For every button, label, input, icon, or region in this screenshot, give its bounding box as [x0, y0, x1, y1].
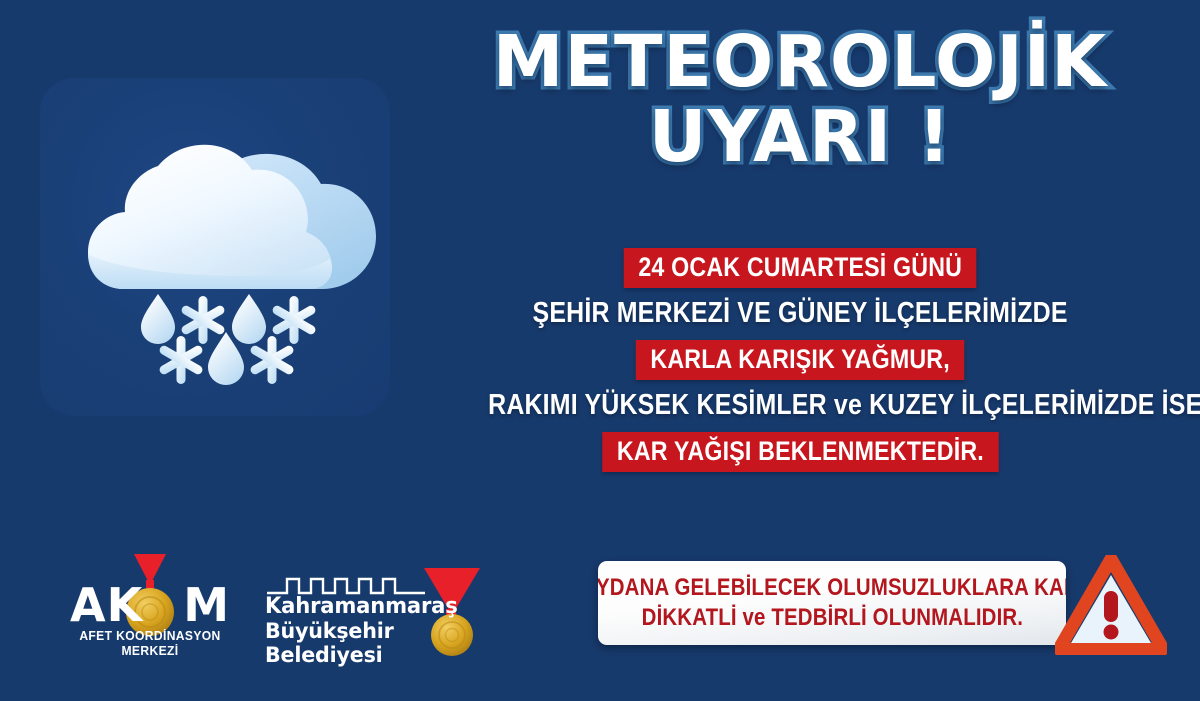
title-line-2: UYARI !: [430, 103, 1170, 172]
akom-wordmark: AKM: [50, 582, 250, 628]
message-line-3: KARLA KARIŞIK YAĞMUR,: [430, 340, 1170, 380]
akom-word-left: AK: [70, 578, 143, 632]
akom-subtitle: AFET KOORDİNASYON MERKEZİ: [57, 628, 243, 658]
caution-banner-line-2-text: DİKKATLİ ve TEDBİRLİ OLUNMALIDIR.: [641, 603, 1022, 633]
akom-logo: AKM AFET KOORDİNASYON MERKEZİ: [50, 552, 250, 652]
message-line-2: ŞEHİR MERKEZİ VE GÜNEY İLÇELERİMİZDE: [430, 294, 1170, 334]
message-line-1: 24 OCAK CUMARTESİ GÜNÜ: [430, 248, 1170, 288]
kahramanmaras-municipality-logo: Kahramanmaraş Büyükşehir Belediyesi: [265, 560, 490, 660]
meteorological-warning-poster: METEOROLOJİK UYARI ! 24 OCAK CUMARTESİ G…: [0, 0, 1200, 701]
kahramanmaras-wordmark: Kahramanmaraş Büyükşehir Belediyesi: [265, 595, 462, 668]
caution-banner: MEYDANA GELEBİLECEK OLUMSUZLUKLARA KARŞI…: [598, 561, 1066, 645]
message-line-1-text: 24 OCAK CUMARTESİ GÜNÜ: [624, 248, 977, 288]
kahramanmaras-line-2: Büyükşehir Belediyesi: [265, 620, 462, 668]
akom-word-right: M: [183, 578, 230, 632]
precipitation-row-1: [141, 294, 317, 344]
warning-message-block: 24 OCAK CUMARTESİ GÜNÜ ŞEHİR MERKEZİ VE …: [430, 248, 1170, 478]
message-line-4-text: RAKIMI YÜKSEK KESİMLER ve KUZEY İLÇELERİ…: [488, 386, 1200, 426]
message-line-5-text: KAR YAĞIŞI BEKLENMEKTEDİR.: [602, 432, 998, 472]
caution-banner-line-2: DİKKATLİ ve TEDBİRLİ OLUNMALIDIR.: [608, 603, 1057, 633]
message-line-5: KAR YAĞIŞI BEKLENMEKTEDİR.: [430, 432, 1170, 472]
message-line-4: RAKIMI YÜKSEK KESİMLER ve KUZEY İLÇELERİ…: [430, 386, 1170, 426]
message-line-2-text: ŞEHİR MERKEZİ VE GÜNEY İLÇELERİMİZDE: [532, 294, 1067, 334]
page-title: METEOROLOJİK UYARI !: [430, 28, 1170, 172]
precipitation-row-2: [158, 332, 295, 385]
caution-banner-line-1: MEYDANA GELEBİLECEK OLUMSUZLUKLARA KARŞI: [598, 573, 1066, 603]
cloud-with-sleet-icon: [40, 78, 390, 416]
message-line-3-text: KARLA KARIŞIK YAĞMUR,: [636, 340, 965, 380]
caution-banner-line-1-text: MEYDANA GELEBİLECEK OLUMSUZLUKLARA KARŞI: [598, 573, 1066, 603]
kahramanmaras-line-1: Kahramanmaraş: [265, 594, 458, 619]
warning-triangle-exclamation-icon: [1055, 555, 1167, 655]
weather-icon-panel: [40, 78, 390, 416]
title-line-1: METEOROLOJİK: [430, 28, 1170, 97]
